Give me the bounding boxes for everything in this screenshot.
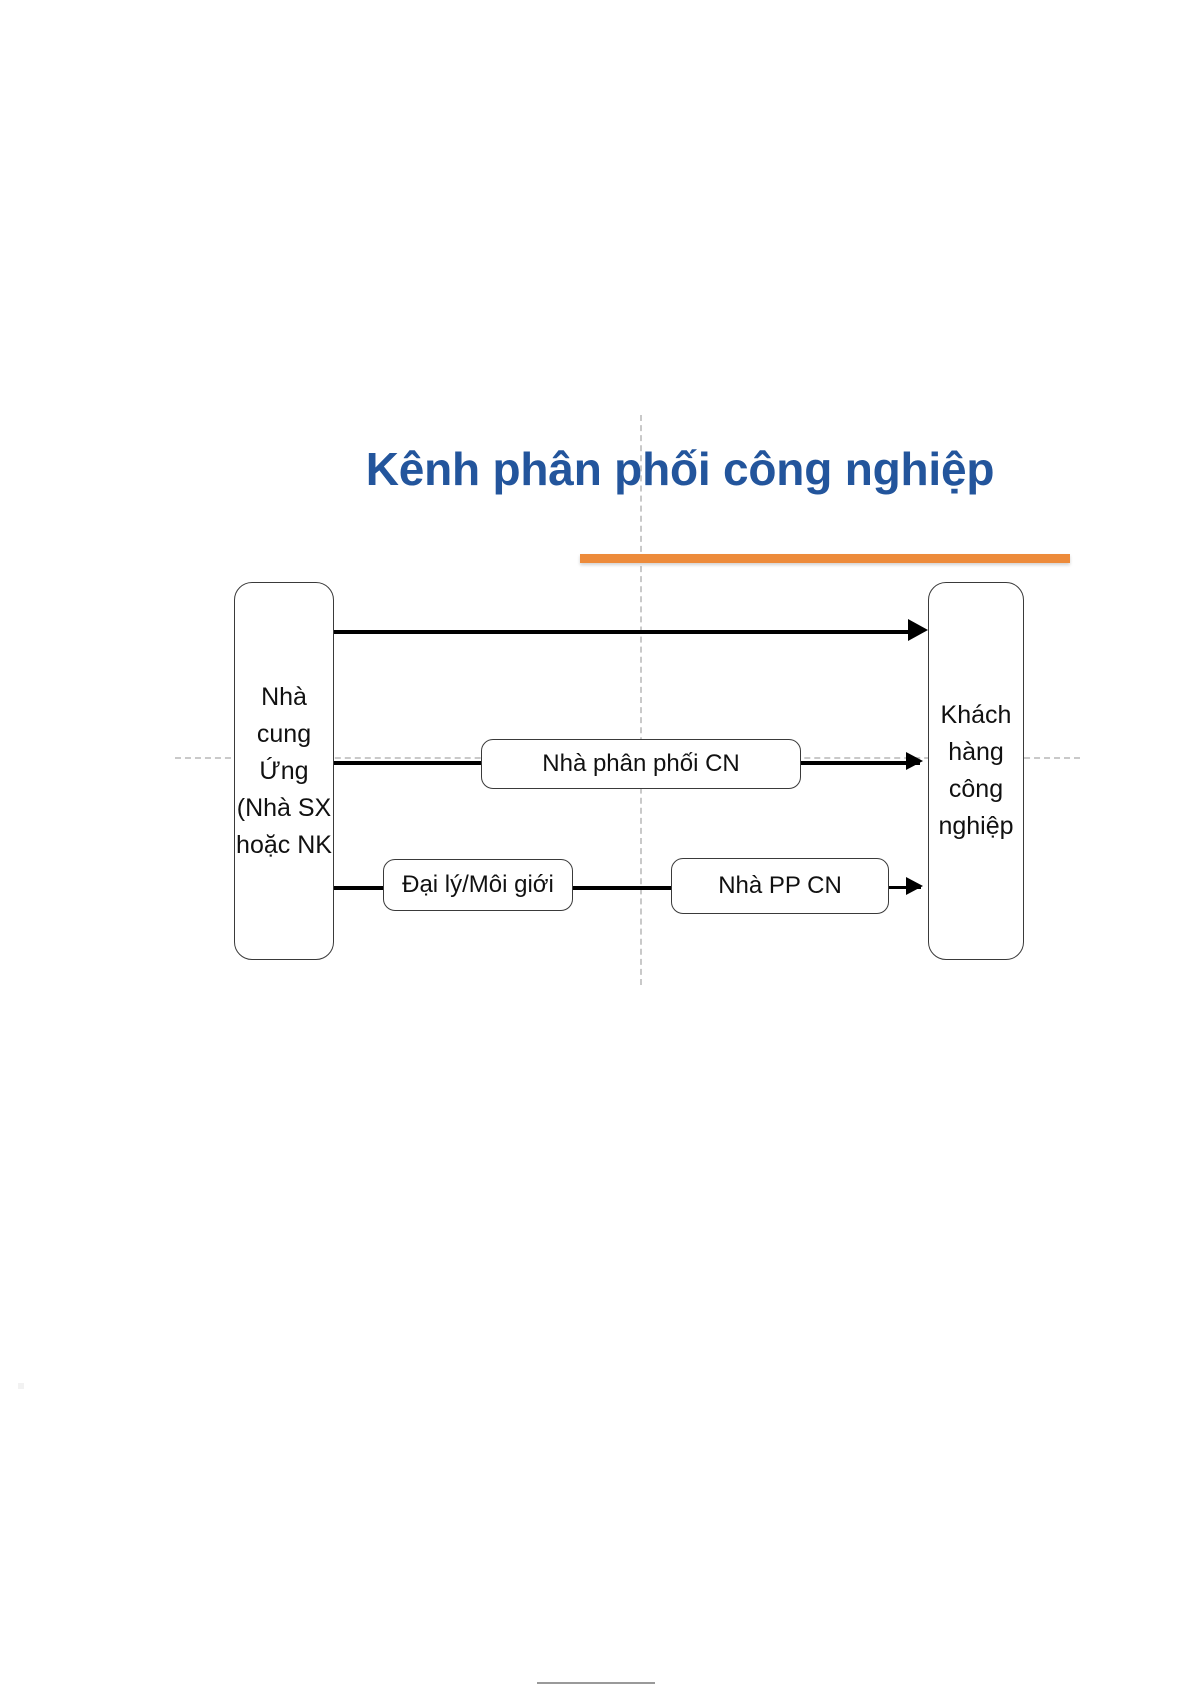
connector-supplier-to-distributor [334,761,484,765]
connector-supplier-to-agent [334,886,386,890]
accent-bar [580,554,1070,563]
connector-supplier-to-customer [334,630,920,634]
node-agent[interactable]: Đại lý/Môi giới [383,859,573,911]
vertical-guide-line [640,415,642,985]
node-distributor[interactable]: Nhà phân phối CN [481,739,801,789]
arrowhead-icon [908,619,928,641]
slide-canvas: Kênh phân phối công nghiệp Nhà cung Ứng … [0,0,1191,1685]
page-title: Kênh phân phối công nghiệp [250,443,1110,496]
page-edge-mark [18,1383,24,1389]
node-customer[interactable]: Khách hàng công nghiệp [928,582,1024,960]
arrowhead-icon [906,877,923,895]
arrowhead-icon [906,752,923,770]
node-ppcn[interactable]: Nhà PP CN [671,858,889,914]
connector-agent-to-ppcn [571,886,674,890]
connector-distributor-to-customer [799,761,920,765]
node-supplier[interactable]: Nhà cung Ứng (Nhà SX hoặc NK [234,582,334,960]
footer-rule [537,1682,655,1684]
